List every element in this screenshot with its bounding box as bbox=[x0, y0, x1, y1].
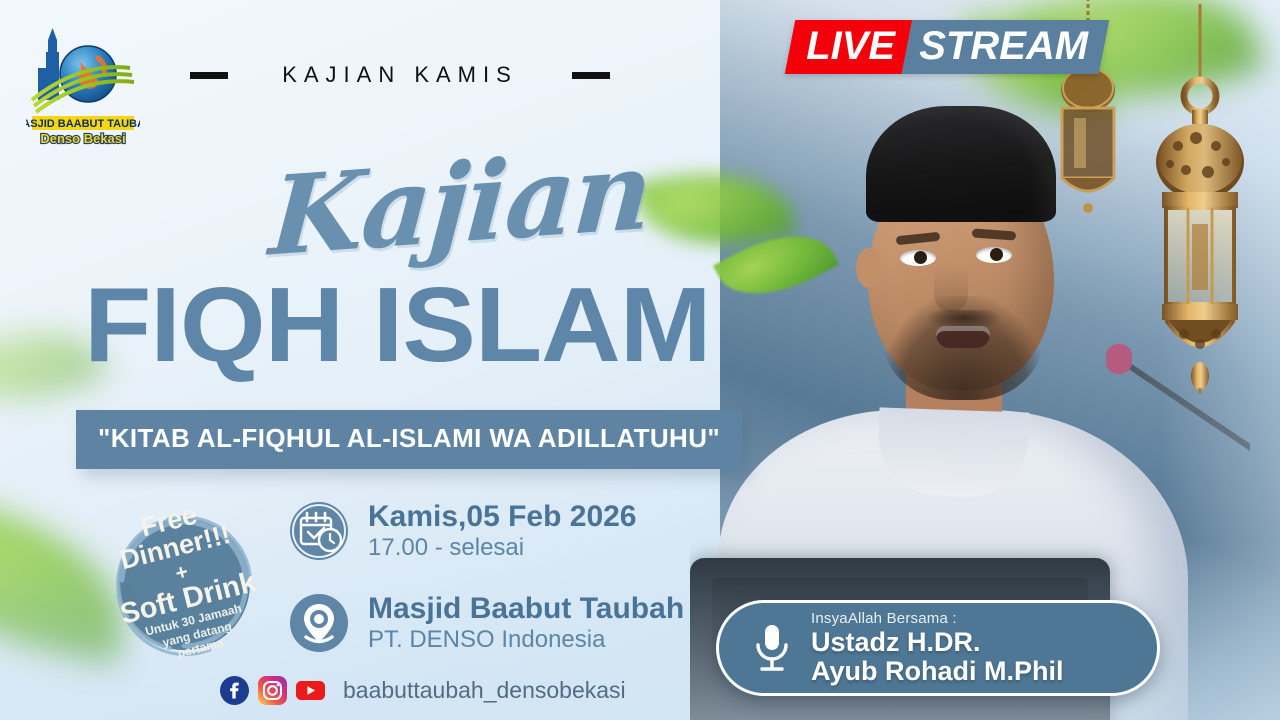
speaker-banner-text: InsyaAllah Bersama : Ustadz H.DR. Ayub R… bbox=[811, 610, 1064, 686]
stream-label: STREAM bbox=[919, 26, 1088, 66]
live-stream-badge[interactable]: LIVE STREAM bbox=[785, 20, 1109, 74]
eyebrow-row: KAJIAN KAMIS bbox=[190, 60, 610, 90]
live-label: LIVE bbox=[806, 26, 895, 66]
script-title: Kajian bbox=[267, 136, 654, 271]
speaker-name-line1: Ustadz H.DR. bbox=[811, 628, 1064, 657]
eyebrow-dash-left bbox=[190, 72, 228, 79]
speaker-banner: InsyaAllah Bersama : Ustadz H.DR. Ayub R… bbox=[716, 600, 1160, 696]
page-title: FIQH ISLAM bbox=[84, 272, 711, 378]
speaker-pupil bbox=[990, 248, 1003, 261]
calendar-clock-icon bbox=[288, 500, 350, 562]
speaker-beard bbox=[880, 296, 1046, 400]
speaker-ear bbox=[856, 248, 882, 288]
social-row: baabuttaubah_densobekasi bbox=[220, 676, 626, 705]
microphone-stand-icon bbox=[1120, 359, 1250, 459]
poster-canvas: MASJID BAABUT TAUBAH Denso Bekasi KAJIAN… bbox=[0, 0, 1280, 720]
detail-date-text: Kamis,05 Feb 2026 17.00 - selesai bbox=[368, 500, 637, 562]
microphone-head-icon bbox=[1106, 344, 1132, 374]
event-date: Kamis,05 Feb 2026 bbox=[368, 500, 637, 534]
speaker-name-line2: Ayub Rohadi M.Phil bbox=[811, 657, 1064, 686]
venue-name: Masjid Baabut Taubah bbox=[368, 592, 684, 626]
eyebrow-dash-right bbox=[572, 72, 610, 79]
detail-row-location: Masjid Baabut Taubah PT. DENSO Indonesia bbox=[288, 592, 684, 654]
logo-line1-text: MASJID BAABUT TAUBAH bbox=[26, 118, 140, 130]
masjid-logo: MASJID BAABUT TAUBAH Denso Bekasi bbox=[26, 22, 140, 150]
subtitle-text: "KITAB AL-FIQHUL AL-ISLAMI WA ADILLATUHU… bbox=[98, 423, 720, 454]
detail-location-text: Masjid Baabut Taubah PT. DENSO Indonesia bbox=[368, 592, 684, 654]
subtitle-band: "KITAB AL-FIQHUL AL-ISLAMI WA ADILLATUHU… bbox=[76, 410, 742, 469]
speaker-pupil bbox=[914, 251, 927, 264]
microphone-icon bbox=[749, 622, 795, 674]
speaker-prefix: InsyaAllah Bersama : bbox=[811, 610, 1064, 627]
peci-cap-icon bbox=[866, 106, 1056, 222]
social-handle[interactable]: baabuttaubah_densobekasi bbox=[343, 677, 626, 704]
live-badge-stream: STREAM bbox=[902, 20, 1109, 74]
free-dinner-stamp: Free Dinner!!! + Soft Drink Untuk 30 Jam… bbox=[100, 498, 268, 666]
logo-line2-text: Denso Bekasi bbox=[40, 131, 125, 146]
facebook-icon[interactable] bbox=[220, 676, 249, 705]
detail-row-date: Kamis,05 Feb 2026 17.00 - selesai bbox=[288, 500, 637, 562]
eyebrow-label: KAJIAN KAMIS bbox=[228, 62, 572, 88]
instagram-icon[interactable] bbox=[258, 676, 287, 705]
venue-company: PT. DENSO Indonesia bbox=[368, 626, 684, 654]
live-badge-live: LIVE bbox=[785, 20, 912, 74]
location-pin-icon bbox=[288, 592, 350, 654]
event-time: 17.00 - selesai bbox=[368, 534, 637, 562]
youtube-icon[interactable] bbox=[296, 676, 325, 705]
